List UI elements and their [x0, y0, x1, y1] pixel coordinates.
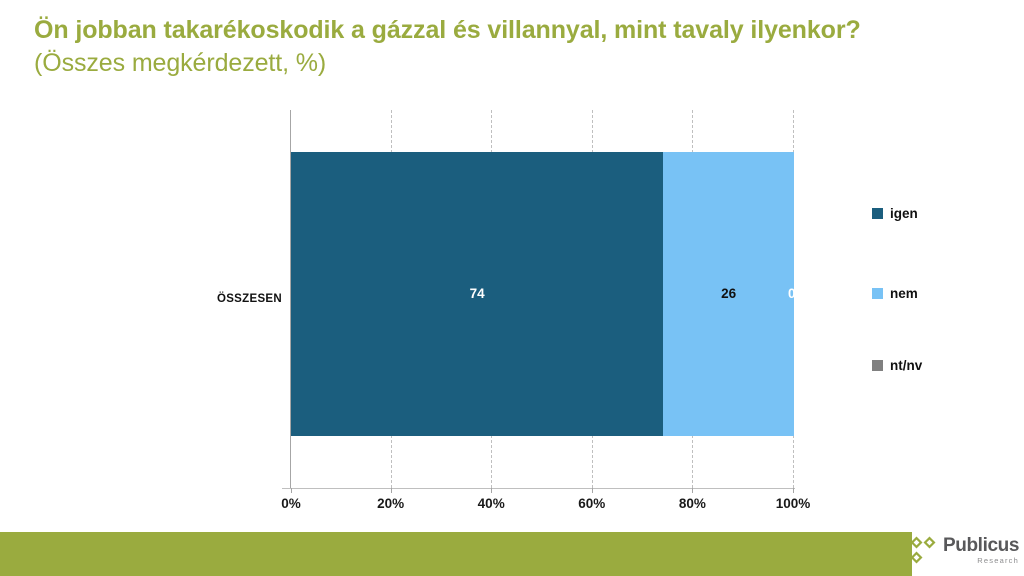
legend-swatch-icon-igen	[872, 208, 883, 219]
logo-tagline-text: Research	[943, 557, 1019, 565]
legend-label-nem: nem	[890, 286, 918, 301]
bar-label-nem: 26	[721, 287, 736, 301]
chart-legend: igen nem nt/nv	[872, 110, 1012, 488]
publicus-logo: Publicus Research	[908, 528, 1016, 572]
page-title: Ön jobban takarékoskodik a gázzal és vil…	[34, 14, 914, 80]
tick-mark-80	[692, 488, 693, 493]
plot-area: 0% 20% 40% 60% 80% 100% 74 26 0	[290, 110, 793, 488]
x-tick-label-60: 60%	[578, 496, 605, 511]
bar-segment-nem[interactable]: 26	[663, 152, 794, 436]
chart-region: ÖSSZESEN 0% 20% 40% 60% 80% 100%	[0, 96, 1024, 516]
x-tick-label-80: 80%	[679, 496, 706, 511]
tick-mark-20	[391, 488, 392, 493]
x-tick-label-100: 100%	[776, 496, 811, 511]
logo-name-text: Publicus	[943, 536, 1019, 555]
publicus-diamonds-icon	[908, 535, 938, 565]
legend-label-igen: igen	[890, 206, 918, 221]
tick-mark-60	[592, 488, 593, 493]
slide-canvas: Ön jobban takarékoskodik a gázzal és vil…	[0, 0, 1024, 576]
legend-swatch-icon-nem	[872, 288, 883, 299]
bar-label-igen: 74	[470, 287, 485, 301]
x-tick-label-0: 0%	[281, 496, 301, 511]
x-tick-label-20: 20%	[377, 496, 404, 511]
publicus-logo-text: Publicus Research	[943, 536, 1019, 565]
tick-mark-100	[793, 488, 794, 493]
category-axis-labels: ÖSSZESEN	[196, 110, 282, 488]
x-axis-line	[282, 488, 795, 489]
legend-item-nem[interactable]: nem	[872, 286, 918, 301]
legend-label-ntnv: nt/nv	[890, 358, 922, 373]
legend-item-ntnv[interactable]: nt/nv	[872, 358, 922, 373]
tick-mark-0	[291, 488, 292, 493]
title-main-text: Ön jobban takarékoskodik a gázzal és vil…	[34, 16, 861, 44]
legend-swatch-icon-ntnv	[872, 360, 883, 371]
category-label-osszesen: ÖSSZESEN	[217, 293, 282, 305]
legend-item-igen[interactable]: igen	[872, 206, 918, 221]
x-tick-label-40: 40%	[478, 496, 505, 511]
bar-label-ntnv: 0	[788, 287, 796, 301]
title-subtitle-text: (Összes megkérdezett, %)	[34, 49, 326, 77]
tick-mark-40	[491, 488, 492, 493]
footer-color-bar	[0, 532, 912, 576]
bar-row-osszesen: 74 26 0	[291, 152, 793, 436]
bar-segment-igen[interactable]: 74	[291, 152, 663, 436]
